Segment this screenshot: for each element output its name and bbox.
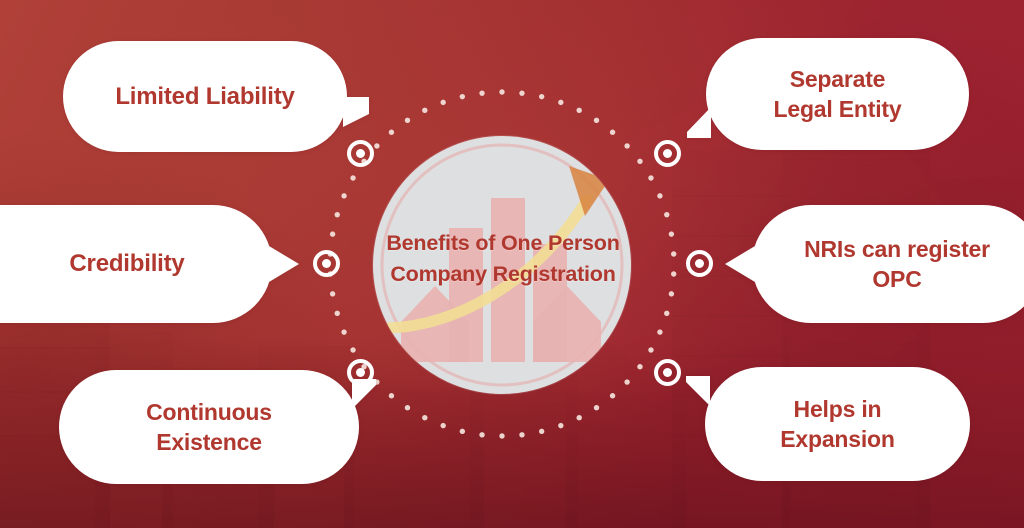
callout-separate-legal-entity-line-1: Separate <box>774 64 902 94</box>
callout-separate-legal-entity-line-2: Legal Entity <box>774 94 902 124</box>
callout-helps-in-expansion[interactable]: Helps in Expansion <box>705 367 970 481</box>
callout-nris-can-register-opc[interactable]: NRIs can register OPC <box>752 205 1024 323</box>
callout-helps-in-expansion-label: Helps in Expansion <box>766 394 909 455</box>
connector-marker-separate-legal-entity[interactable] <box>654 140 681 167</box>
bubble-tail-nris-can-register-opc <box>725 246 755 282</box>
callout-limited-liability[interactable]: Limited Liability <box>63 41 347 152</box>
callout-credibility[interactable]: Credibility <box>0 205 272 323</box>
callout-continuous-existence-label: Continuous Existence <box>132 397 286 458</box>
callout-continuous-existence[interactable]: Continuous Existence <box>59 370 359 484</box>
center-title-line-2: Company Registration <box>360 259 646 290</box>
center-title-line-1: Benefits of One Person <box>360 228 646 259</box>
callout-helps-in-expansion-line-2: Expansion <box>780 424 895 454</box>
bubble-tail-limited-liability <box>343 97 369 127</box>
center-title: Benefits of One Person Company Registrat… <box>360 228 646 289</box>
bubble-tail-helps-in-expansion <box>686 376 710 406</box>
callout-separate-legal-entity[interactable]: Separate Legal Entity <box>706 38 969 150</box>
bubble-tail-continuous-existence <box>352 379 376 409</box>
callout-helps-in-expansion-line-1: Helps in <box>780 394 895 424</box>
callout-limited-liability-label: Limited Liability <box>101 81 308 113</box>
callout-continuous-existence-line-2: Existence <box>146 427 272 457</box>
callout-nris-can-register-opc-line-2: OPC <box>804 264 990 294</box>
callout-nris-can-register-opc-line-1: NRIs can register <box>804 234 990 264</box>
callout-continuous-existence-line-1: Continuous <box>146 397 272 427</box>
infographic-canvas: Benefits of One Person Company Registrat… <box>0 0 1024 528</box>
callout-nris-can-register-opc-label: NRIs can register OPC <box>790 234 1004 295</box>
callout-credibility-label: Credibility <box>15 248 198 280</box>
bubble-tail-credibility <box>269 246 299 282</box>
connector-marker-limited-liability[interactable] <box>347 140 374 167</box>
connector-marker-credibility[interactable] <box>313 250 340 277</box>
connector-marker-nris-register-opc[interactable] <box>686 250 713 277</box>
bubble-tail-separate-legal-entity <box>687 107 711 138</box>
connector-marker-helps-in-expansion[interactable] <box>654 359 681 386</box>
callout-separate-legal-entity-label: Separate Legal Entity <box>760 64 916 125</box>
